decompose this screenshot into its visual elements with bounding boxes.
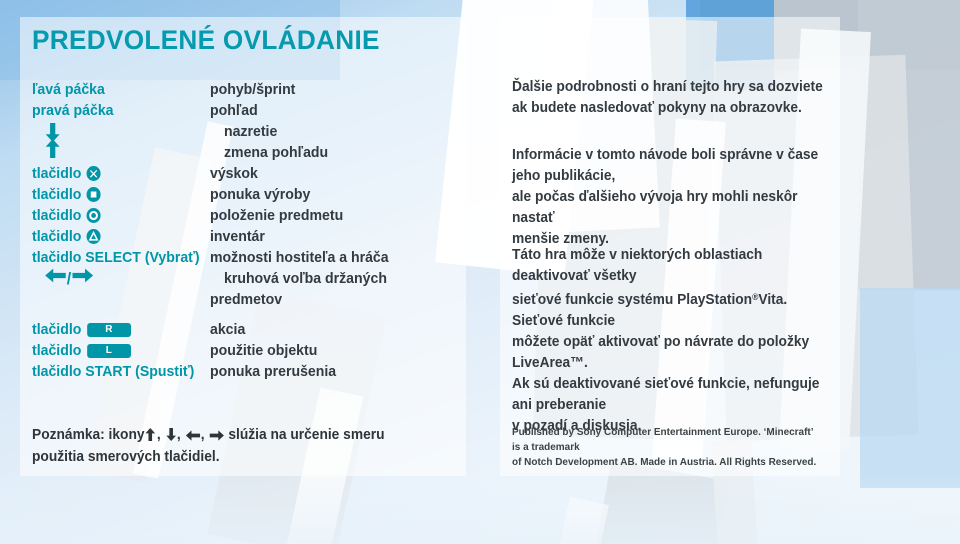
control-row: ľavá páčkapohyb/šprint xyxy=(32,79,452,100)
note-sep-2: , xyxy=(177,427,185,443)
page-title: PREDVOLENÉ OVLÁDANIE xyxy=(32,25,380,56)
info-paragraph-3-part1: Táto hra môže v niektorých oblastiach de… xyxy=(512,247,762,308)
control-key: tlačidloR xyxy=(32,319,199,340)
control-key: ľavá páčka xyxy=(32,79,199,100)
control-row: tlačidlo SELECT (Vybrať)možnosti hostite… xyxy=(32,247,452,268)
control-action: použitie objektu xyxy=(210,340,317,361)
bg-shape-pale-blue-right xyxy=(860,288,960,488)
control-key-label: tlačidlo xyxy=(32,226,81,247)
info-paragraph-3-part2: Vita. Sieťové funkcie môžete opäť aktivo… xyxy=(512,292,819,434)
control-row: predmetov xyxy=(32,289,452,310)
control-row: /kruhová voľba držaných xyxy=(32,268,452,289)
info-panel: Ďalšie podrobnosti o hraní tejto hry sa … xyxy=(500,17,840,476)
control-key: tlačidlo xyxy=(32,184,199,205)
arrow-left-icon xyxy=(185,427,199,447)
info-paragraph-3: Táto hra môže v niektorých oblastiach de… xyxy=(512,245,824,437)
circle-button-icon xyxy=(86,208,100,223)
controls-list: ľavá páčkapohyb/šprintpravá páčkapohľadn… xyxy=(32,79,452,382)
arrow-down-icon xyxy=(165,427,175,447)
control-action: nazretie xyxy=(224,121,277,142)
control-key-label: pravá páčka xyxy=(32,100,114,121)
note-line-2: použitia smerových tlačidiel. xyxy=(32,449,220,465)
control-key: tlačidlo SELECT (Vybrať) xyxy=(32,247,199,268)
control-action: pohyb/šprint xyxy=(210,79,295,100)
arrow-up-icon xyxy=(45,139,60,158)
square-button-icon xyxy=(86,187,100,202)
info-paragraph-1: Ďalšie podrobnosti o hraní tejto hry sa … xyxy=(512,77,823,119)
control-row: tlačidloinventár xyxy=(32,226,452,247)
control-row: tlačidlovýskok xyxy=(32,163,452,184)
control-key-label: tlačidlo xyxy=(32,184,81,205)
control-action: ponuka výroby xyxy=(210,184,310,205)
control-key: tlačidlo START (Spustiť) xyxy=(32,361,199,382)
control-row: tlačidloponuka výroby xyxy=(32,184,452,205)
info-paragraph-2: Informácie v tomto návode boli správne v… xyxy=(512,145,824,250)
control-key-label: tlačidlo xyxy=(32,205,81,226)
control-key: tlačidloL xyxy=(32,340,199,361)
control-action: kruhová voľba držaných xyxy=(224,268,387,289)
shoulder-button-r: R xyxy=(87,323,131,337)
note-text: Poznámka: ikony, , , slúžia na určenie s… xyxy=(32,425,431,467)
control-row: tlačidlo START (Spustiť)ponuka prerušeni… xyxy=(32,361,452,382)
note-prefix: Poznámka: ikony xyxy=(32,427,145,443)
control-row: tlačidloRakcia xyxy=(32,319,452,340)
control-key: tlačidlo xyxy=(32,205,199,226)
control-key-label: tlačidlo START (Spustiť) xyxy=(32,361,194,382)
control-action: zmena pohľadu xyxy=(224,142,328,163)
control-row: tlačidlopoloženie predmetu xyxy=(32,205,452,226)
control-action: položenie predmetu xyxy=(210,205,343,226)
legal-notice: Published by Sony Computer Entertainment… xyxy=(512,425,824,470)
arrow-up-icon xyxy=(145,427,155,447)
control-key: pravá páčka xyxy=(32,100,199,121)
control-key-label: tlačidlo xyxy=(32,319,81,340)
control-action: výskok xyxy=(210,163,258,184)
bg-shape-bottom-haze xyxy=(0,470,960,544)
controls-panel: PREDVOLENÉ OVLÁDANIE ľavá páčkapohyb/špr… xyxy=(20,17,466,476)
manual-page: PREDVOLENÉ OVLÁDANIE ľavá páčkapohyb/špr… xyxy=(0,0,960,544)
control-key-label: tlačidlo SELECT (Vybrať) xyxy=(32,247,200,268)
slash-separator: / xyxy=(67,271,71,287)
note-sep-1: , xyxy=(157,427,165,443)
control-key-label: tlačidlo xyxy=(32,163,81,184)
control-row: tlačidloLpoužitie objektu xyxy=(32,340,452,361)
control-key: tlačidlo xyxy=(32,163,199,184)
shoulder-button-l: L xyxy=(87,344,131,358)
note-sep-3: , xyxy=(201,427,209,443)
control-action: inventár xyxy=(210,226,265,247)
note-after-arrows: slúžia na určenie smeru xyxy=(228,427,384,443)
cross-button-icon xyxy=(86,166,100,181)
arrow-right-icon xyxy=(72,268,93,289)
control-row: pravá páčkapohľad xyxy=(32,100,452,121)
control-action: možnosti hostiteľa a hráča xyxy=(210,247,389,268)
control-key-label: tlačidlo xyxy=(32,340,81,361)
arrow-right-icon xyxy=(209,427,223,447)
control-key: / xyxy=(32,268,212,289)
control-action: predmetov xyxy=(210,289,282,310)
control-row: zmena pohľadu xyxy=(32,142,452,163)
control-key: tlačidlo xyxy=(32,226,199,247)
control-key-label: ľavá páčka xyxy=(32,79,105,100)
control-action: pohľad xyxy=(210,100,258,121)
control-key xyxy=(32,142,212,158)
control-action: akcia xyxy=(210,319,245,340)
control-row: nazretie xyxy=(32,121,452,142)
control-action: ponuka prerušenia xyxy=(210,361,336,382)
triangle-button-icon xyxy=(86,229,100,244)
arrow-left-icon xyxy=(45,268,66,289)
